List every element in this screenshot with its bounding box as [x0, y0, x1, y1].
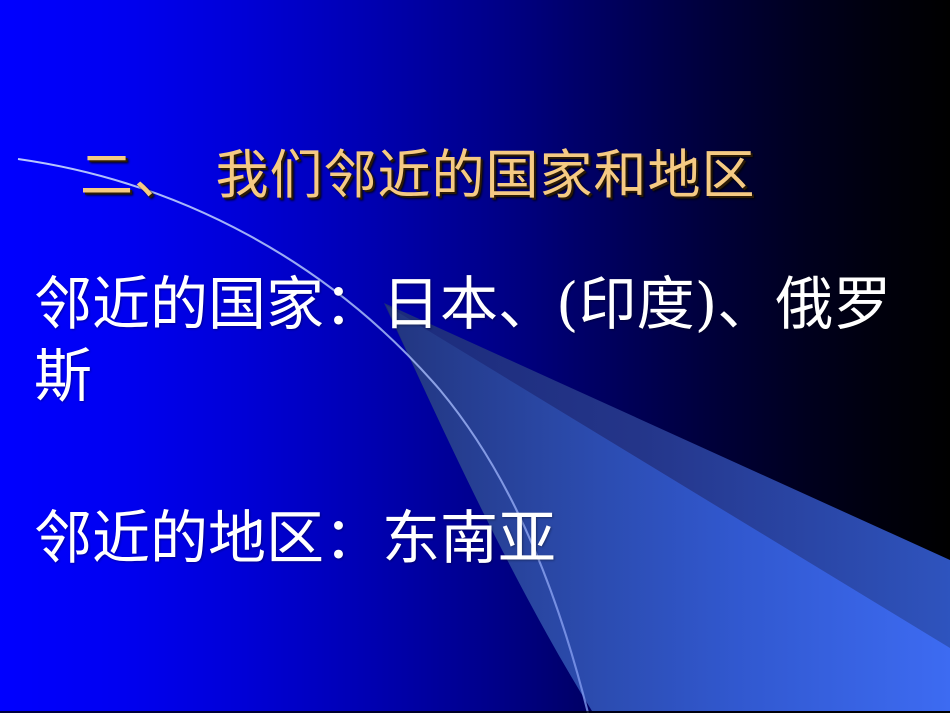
body-line-neighbor-region: 邻近的地区：东南亚: [34, 502, 914, 574]
presentation-slide: 二、 我们邻近的国家和地区 邻近的国家：日本、(印度)、俄罗斯 邻近的地区：东南…: [0, 0, 950, 713]
body-line-neighbor-countries: 邻近的国家：日本、(印度)、俄罗斯: [34, 268, 914, 412]
slide-title: 二、 我们邻近的国家和地区: [80, 146, 756, 206]
curved-sweep-line: [18, 159, 588, 713]
